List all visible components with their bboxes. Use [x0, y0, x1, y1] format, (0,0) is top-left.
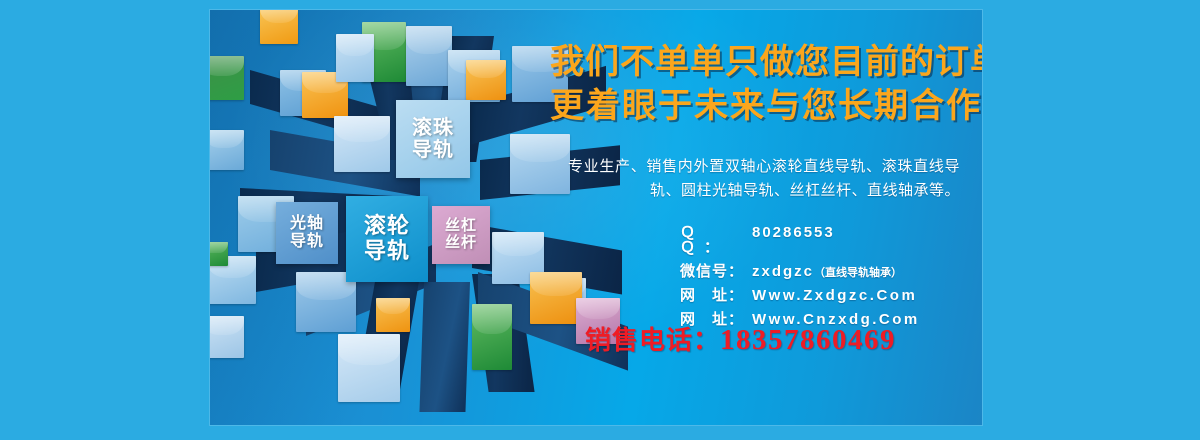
contact-note-wechat: （直线导轨轴承）	[814, 268, 902, 279]
product-label-line1: 丝杠	[445, 218, 477, 235]
decorative-cube	[210, 56, 244, 100]
product-label-line1: 滚轮	[364, 214, 410, 239]
contact-row-qq: Ｑ Ｑ： 80286553	[680, 225, 980, 255]
decorative-cube	[210, 130, 244, 170]
sales-phone[interactable]: 销售电话：18357860469	[585, 320, 896, 357]
product-label-gunlun-daogui[interactable]: 滚轮 导轨	[346, 196, 428, 282]
decorative-cube	[210, 316, 244, 358]
cube-extrusion	[419, 282, 470, 412]
contact-value-qq[interactable]: 80286553	[752, 225, 835, 240]
description-paragraph: 专业生产、销售内外置双轴心滚轮直线导轨、滚珠直线导轨、圆柱光轴导轨、丝杠丝杆、直…	[568, 155, 960, 202]
product-label-line2: 丝杆	[445, 235, 477, 252]
headline: 我们不单单只做您目前的订单 更着眼于未来与您长期合作	[550, 40, 980, 128]
banner-panel: 滚珠 导轨 光轴 导轨 滚轮 导轨 丝杠 丝杆 我们不单单只做您目前的订单 更着…	[210, 10, 982, 425]
decorative-cube	[376, 298, 410, 332]
cube-cluster-graphic: 滚珠 导轨 光轴 导轨 滚轮 导轨 丝杠 丝杆	[210, 10, 590, 425]
product-label-gunzhu-daogui[interactable]: 滚珠 导轨	[396, 100, 470, 178]
banner-canvas: 滚珠 导轨 光轴 导轨 滚轮 导轨 丝杠 丝杆 我们不单单只做您目前的订单 更着…	[0, 0, 1200, 440]
decorative-cube	[210, 242, 228, 266]
decorative-cube	[472, 304, 512, 370]
product-label-line1: 光轴	[290, 215, 324, 233]
product-label-sigang-sigan[interactable]: 丝杠 丝杆	[432, 206, 490, 264]
decorative-cube	[336, 34, 374, 82]
product-label-guangzhou-daogui[interactable]: 光轴 导轨	[276, 202, 338, 264]
product-label-line2: 导轨	[412, 139, 454, 161]
contact-label: 网 址：	[680, 288, 752, 303]
contact-label: 微信号：	[680, 264, 752, 279]
product-label-line2: 导轨	[290, 233, 324, 251]
contact-label: Ｑ Ｑ：	[680, 225, 752, 255]
contact-value-website-1[interactable]: Www.Zxdgzc.Com	[752, 288, 917, 303]
headline-line-1: 我们不单单只做您目前的订单	[550, 40, 980, 84]
product-label-line2: 导轨	[364, 239, 410, 264]
decorative-cube	[260, 10, 298, 44]
contact-row-website-1: 网 址： Www.Zxdgzc.Com	[680, 288, 980, 303]
decorative-cube	[338, 334, 400, 402]
contact-value-wechat[interactable]: zxdgzc	[752, 264, 814, 279]
banner-text-column: 我们不单单只做您目前的订单 更着眼于未来与您长期合作 专业生产、销售内外置双轴心…	[540, 10, 982, 425]
decorative-cube	[466, 60, 506, 100]
sales-phone-number: 18357860469	[720, 324, 896, 356]
product-label-line1: 滚珠	[412, 117, 454, 139]
contact-row-wechat: 微信号： zxdgzc （直线导轨轴承）	[680, 264, 980, 279]
decorative-cube	[334, 116, 390, 172]
sales-phone-label: 销售电话：	[585, 325, 720, 355]
headline-line-2: 更着眼于未来与您长期合作	[550, 84, 980, 128]
decorative-cube	[406, 26, 452, 86]
